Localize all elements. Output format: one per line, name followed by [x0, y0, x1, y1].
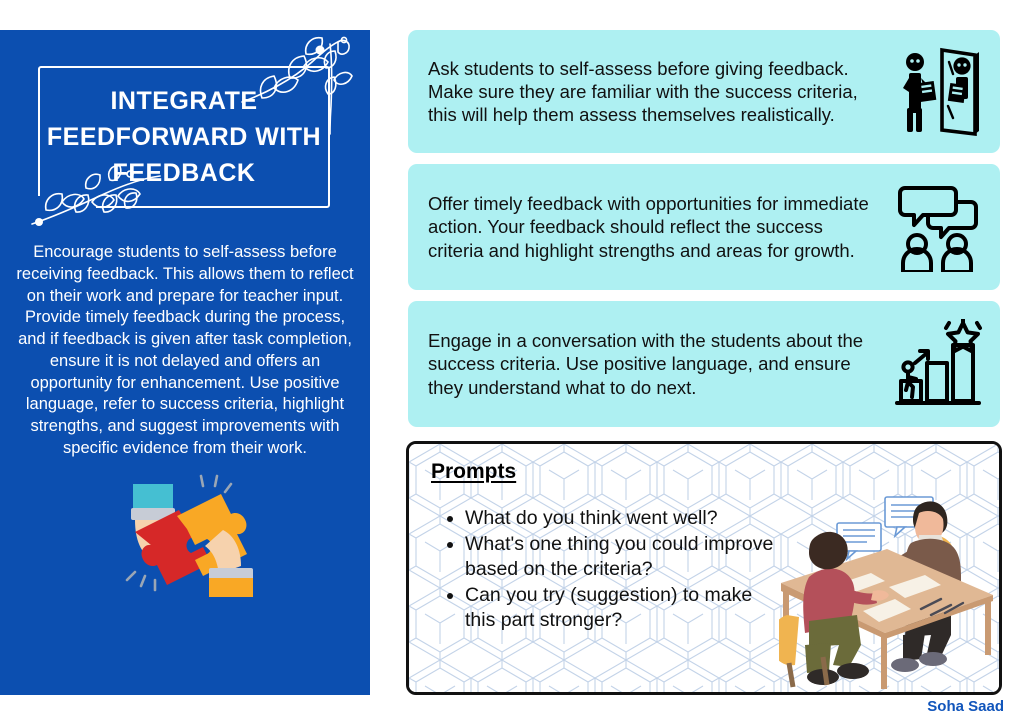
sidebar-panel: INTEGRATE FEEDFORWARD WITH FEEDBACK [0, 30, 370, 695]
prompts-panel: Prompts What do you think went well? Wha… [406, 441, 1002, 695]
title-line-1: INTEGRATE [110, 83, 257, 119]
prompts-heading: Prompts [431, 460, 516, 484]
hands-joining-puzzle-pieces-illustration [105, 472, 265, 597]
title-block: INTEGRATE FEEDFORWARD WITH FEEDBACK [20, 38, 350, 238]
tip-card-conversation: Engage in a conversation with the studen… [408, 301, 1000, 427]
sidebar-body-text: Encourage students to self-assess before… [15, 242, 355, 460]
tip-card-self-assess: Ask students to self-assess before givin… [408, 30, 1000, 153]
title-line-3: FEEDBACK [113, 155, 256, 191]
frame-gap-top-right [332, 62, 354, 132]
card-icon-slot [890, 319, 986, 409]
tip-card-timely-feedback: Offer timely feedback with opportunities… [408, 164, 1000, 290]
list-item: What's one thing you could improve based… [465, 532, 781, 581]
list-item: What do you think went well? [465, 506, 781, 530]
prompts-content: Prompts What do you think went well? Wha… [409, 444, 999, 632]
list-item: Can you try (suggestion) to make this pa… [465, 583, 781, 632]
author-signature: Soha Saad [927, 698, 1004, 715]
growth-bar-chart-star-icon [893, 319, 983, 409]
tip-card-text: Engage in a conversation with the studen… [428, 329, 890, 399]
tip-card-text: Offer timely feedback with opportunities… [428, 192, 890, 262]
card-icon-slot [890, 182, 986, 272]
tip-card-text: Ask students to self-assess before givin… [428, 57, 890, 127]
two-people-speech-bubbles-icon [895, 182, 981, 272]
page-title: INTEGRATE FEEDFORWARD WITH FEEDBACK [38, 66, 330, 208]
cards-column: Ask students to self-assess before givin… [408, 30, 1000, 438]
person-mirror-self-assessment-icon [895, 46, 981, 138]
title-line-2: FEEDFORWARD WITH [47, 119, 321, 155]
prompts-list: What do you think went well? What's one … [431, 506, 781, 632]
card-icon-slot [890, 46, 986, 138]
